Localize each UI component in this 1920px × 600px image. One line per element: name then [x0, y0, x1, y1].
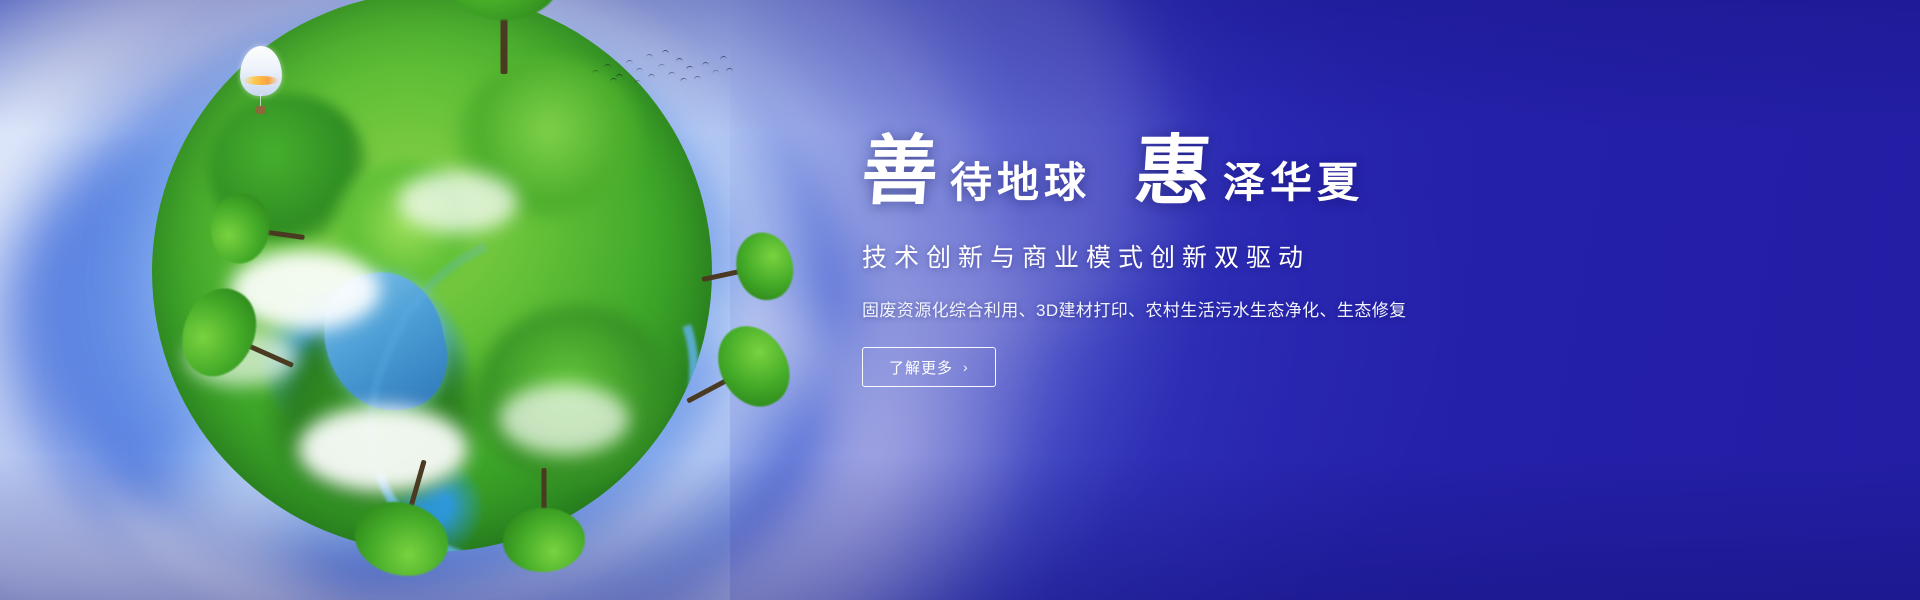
- bird-icon: [720, 56, 727, 61]
- bird-icon: [634, 79, 642, 84]
- hero-headline: 善 待地球 惠 泽华夏: [862, 118, 1562, 214]
- headline-text-secondary: 泽华夏: [1223, 149, 1364, 214]
- hero-content: 善 待地球 惠 泽华夏 技术创新与商业模式创新双驱动 固废资源化综合利用、3D建…: [862, 118, 1562, 387]
- bird-icon: [662, 50, 669, 55]
- cloud-puff: [398, 171, 518, 233]
- tree-crown: [445, 0, 563, 20]
- bird-icon: [604, 64, 611, 68]
- bird-icon: [676, 58, 683, 62]
- bird-icon: [592, 70, 599, 75]
- bird-icon: [680, 77, 688, 82]
- balloon-stripe: [243, 76, 279, 85]
- lake-icon: [312, 261, 457, 422]
- bird-icon: [646, 54, 653, 59]
- bird-icon: [702, 62, 709, 67]
- headline-char-primary: 善: [860, 136, 941, 206]
- tree-icon: [206, 189, 309, 273]
- bird-icon: [648, 74, 655, 78]
- chevron-right-icon: ›: [963, 359, 969, 375]
- bird-icon: [726, 68, 733, 72]
- headline-group-1: 善 待地球: [862, 136, 1091, 214]
- hero-banner: 善 待地球 惠 泽华夏 技术创新与商业模式创新双驱动 固废资源化综合利用、3D建…: [0, 0, 1920, 600]
- hero-subtitle: 技术创新与商业模式创新双驱动: [862, 238, 1562, 274]
- bird-icon: [712, 69, 720, 74]
- bird-icon: [626, 60, 633, 65]
- bird-icon: [610, 78, 617, 83]
- bird-icon: [694, 76, 701, 81]
- hot-air-balloon-icon: [240, 46, 282, 122]
- tree-crown: [503, 508, 585, 572]
- bird-icon: [686, 65, 694, 70]
- bird-flock-icon: [590, 44, 730, 94]
- learn-more-button[interactable]: 了解更多 ›: [862, 347, 996, 387]
- tree-crown: [207, 190, 274, 267]
- bird-icon: [668, 71, 676, 76]
- balloon-basket: [256, 106, 266, 114]
- headline-group-2: 惠 泽华夏: [1135, 136, 1364, 214]
- cloud-puff: [499, 384, 629, 454]
- headline-char-primary: 惠: [1133, 136, 1214, 206]
- headline-text-secondary: 待地球: [950, 149, 1091, 214]
- forest-patch: [331, 160, 481, 290]
- hero-description: 固废资源化综合利用、3D建材打印、农村生活污水生态净化、生态修复: [862, 296, 1562, 321]
- bird-icon: [616, 74, 623, 78]
- balloon-envelope: [240, 46, 282, 96]
- bird-icon: [658, 63, 666, 68]
- tree-icon: [444, 0, 564, 74]
- bird-icon: [636, 68, 643, 73]
- learn-more-label: 了解更多: [889, 357, 953, 378]
- tree-icon: [502, 468, 586, 572]
